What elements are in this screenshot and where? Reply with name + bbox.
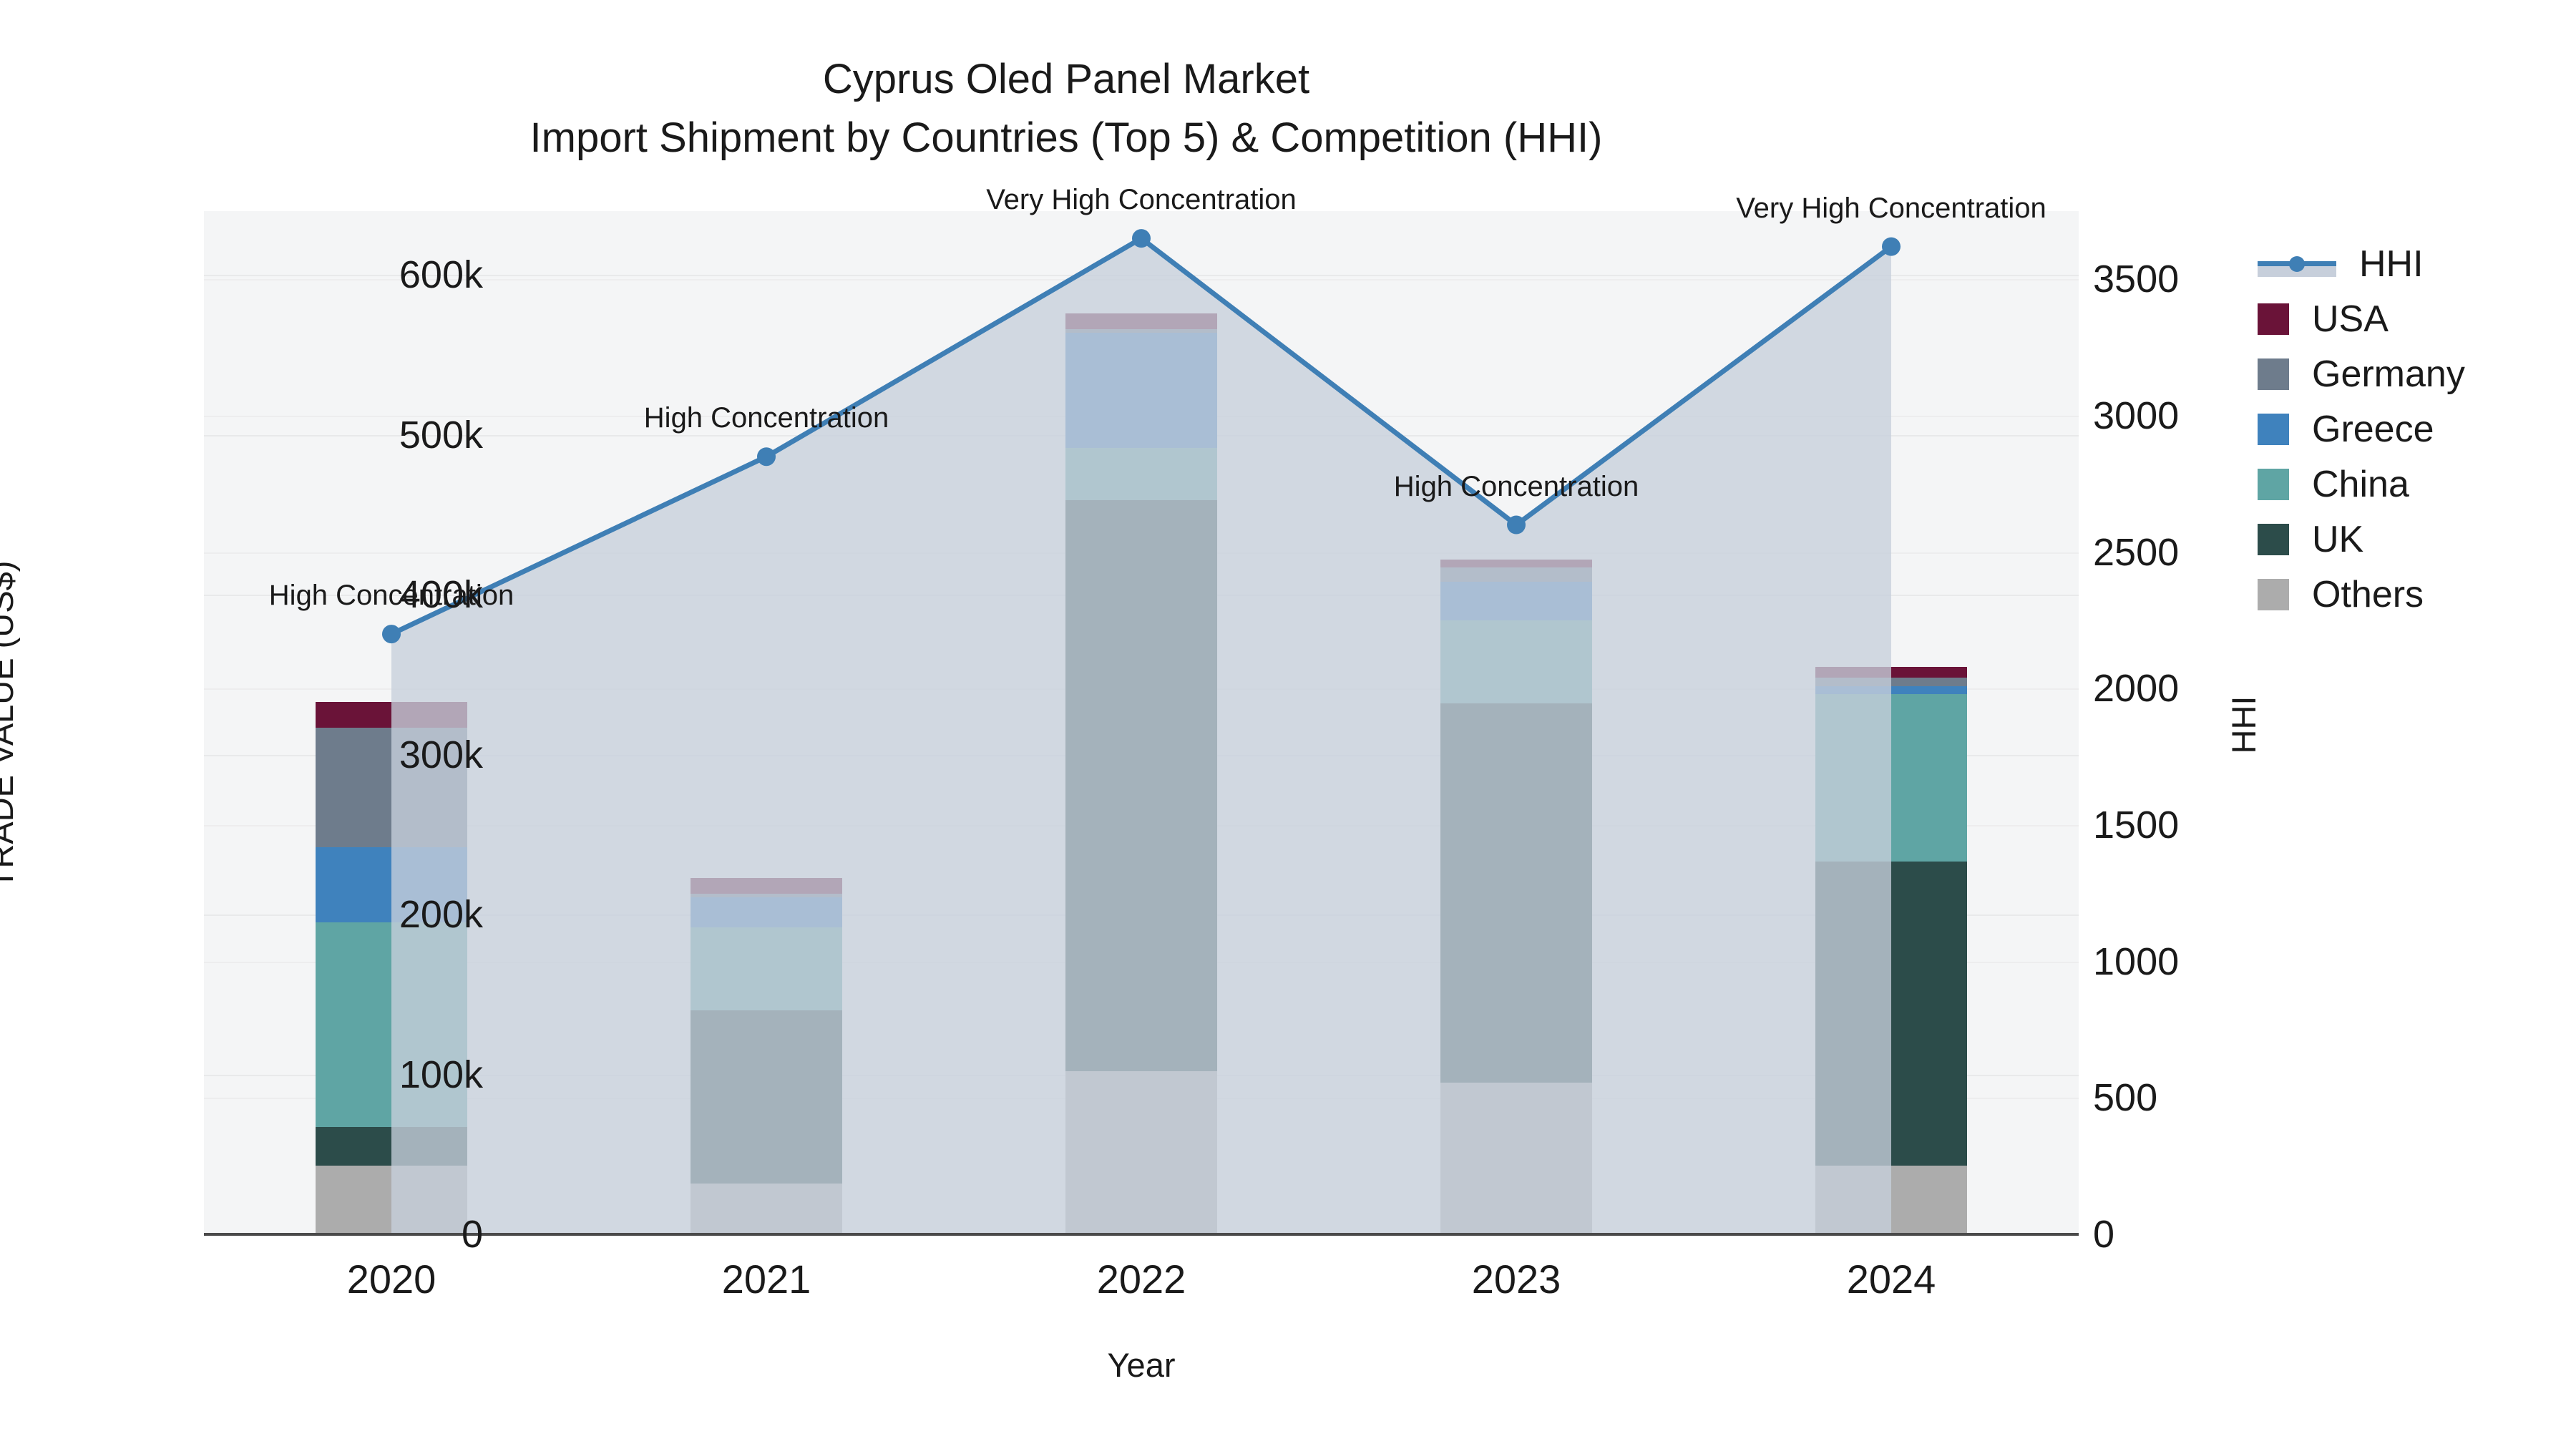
bar-segment-greece-2023[interactable] (1440, 582, 1592, 620)
bar-segment-greece-2024[interactable] (1815, 686, 1967, 694)
x-tick-2022: 2022 (1097, 1256, 1186, 1302)
x-tick-2021: 2021 (722, 1256, 811, 1302)
bar-segment-uk-2023[interactable] (1440, 703, 1592, 1083)
y-tick-left-200k: 200k (268, 892, 483, 937)
bar-segment-others-2024[interactable] (1815, 1166, 1967, 1234)
legend-label: USA (2312, 301, 2389, 338)
bar-segment-others-2021[interactable] (691, 1184, 842, 1235)
annotation-2022: Very High Concentration (986, 184, 1297, 216)
y-tick-left-500k: 500k (268, 413, 483, 457)
annotation-2023: High Concentration (1394, 471, 1639, 503)
legend-item-usa[interactable]: USA (2258, 291, 2558, 346)
legend-swatch-icon (2258, 524, 2289, 555)
legend-item-hhi[interactable]: HHI (2258, 236, 2558, 291)
bar-segment-uk-2021[interactable] (691, 1010, 842, 1183)
x-axis-line (204, 1233, 2079, 1236)
x-tick-2024: 2024 (1847, 1256, 1936, 1302)
hhi-point-2021[interactable] (757, 447, 776, 466)
legend-swatch-icon (2258, 358, 2289, 390)
plot-area: High ConcentrationHigh ConcentrationVery… (204, 211, 2079, 1234)
legend-label: China (2312, 466, 2409, 503)
annotation-2024: Very High Concentration (1736, 192, 2046, 225)
legend-label: HHI (2359, 245, 2424, 283)
x-tick-2020: 2020 (347, 1256, 436, 1302)
bar-segment-others-2023[interactable] (1440, 1083, 1592, 1234)
bar-segment-china-2022[interactable] (1065, 448, 1217, 501)
bar-segment-usa-2024[interactable] (1815, 667, 1967, 678)
bar-2023[interactable] (1440, 560, 1592, 1234)
chart-title: Cyprus Oled Panel Market Import Shipment… (0, 50, 2132, 168)
hhi-point-2020[interactable] (382, 625, 401, 643)
x-tick-2023: 2023 (1472, 1256, 1561, 1302)
y-tick-right-1000: 1000 (2093, 940, 2308, 984)
bar-segment-usa-2022[interactable] (1065, 313, 1217, 329)
y-axis-right-title: HHI (2224, 696, 2263, 753)
bar-segment-usa-2023[interactable] (1440, 560, 1592, 567)
legend-label: UK (2312, 521, 2363, 558)
gridline (204, 275, 2079, 276)
y-tick-left-100k: 100k (268, 1053, 483, 1097)
gridline-secondary (204, 279, 2079, 280)
bar-segment-uk-2022[interactable] (1065, 500, 1217, 1071)
bar-segment-germany-2024[interactable] (1815, 678, 1967, 686)
legend-item-germany[interactable]: Germany (2258, 346, 2558, 401)
y-tick-left-400k: 400k (268, 572, 483, 617)
x-axis-title: Year (204, 1345, 2079, 1385)
bar-segment-germany-2023[interactable] (1440, 567, 1592, 582)
bar-segment-usa-2021[interactable] (691, 878, 842, 894)
bar-segment-germany-2022[interactable] (1065, 329, 1217, 332)
bar-segment-uk-2020[interactable] (316, 1127, 467, 1166)
legend-swatch-icon (2258, 469, 2289, 500)
bar-2021[interactable] (691, 878, 842, 1234)
chart-title-line1: Cyprus Oled Panel Market (0, 50, 2132, 109)
legend-label: Others (2312, 576, 2424, 613)
annotation-2021: High Concentration (644, 402, 889, 434)
y-tick-right-500: 500 (2093, 1075, 2308, 1120)
bar-segment-germany-2021[interactable] (691, 894, 842, 897)
bar-segment-usa-2020[interactable] (316, 702, 467, 728)
bar-2024[interactable] (1815, 667, 1967, 1234)
legend-item-china[interactable]: China (2258, 457, 2558, 512)
legend-swatch-icon (2258, 303, 2289, 335)
legend-item-others[interactable]: Others (2258, 567, 2558, 622)
bar-segment-china-2023[interactable] (1440, 620, 1592, 703)
y-axis-left-title: TRADE VALUE (US$) (0, 560, 21, 889)
y-tick-left-300k: 300k (268, 733, 483, 777)
bar-segment-others-2022[interactable] (1065, 1071, 1217, 1234)
bar-segment-uk-2024[interactable] (1815, 862, 1967, 1166)
bar-segment-china-2024[interactable] (1815, 694, 1967, 862)
legend-item-greece[interactable]: Greece (2258, 401, 2558, 457)
chart-title-line2: Import Shipment by Countries (Top 5) & C… (0, 109, 2132, 167)
bar-segment-china-2021[interactable] (691, 927, 842, 1010)
bar-2022[interactable] (1065, 313, 1217, 1234)
bar-segment-greece-2021[interactable] (691, 897, 842, 927)
legend-label: Greece (2312, 411, 2434, 448)
hhi-point-2023[interactable] (1507, 516, 1526, 535)
bar-segment-greece-2022[interactable] (1065, 333, 1217, 448)
hhi-point-2024[interactable] (1882, 238, 1901, 256)
hhi-point-2022[interactable] (1132, 229, 1151, 248)
legend-item-uk[interactable]: UK (2258, 512, 2558, 567)
legend-swatch-icon (2258, 579, 2289, 610)
bar-2020[interactable] (316, 702, 467, 1234)
legend-label: Germany (2312, 356, 2465, 393)
legend-line-marker-icon (2258, 248, 2336, 280)
y-tick-left-0: 0 (268, 1212, 483, 1257)
legend-swatch-icon (2258, 414, 2289, 445)
y-tick-left-600k: 600k (268, 253, 483, 297)
y-tick-right-1500: 1500 (2093, 803, 2308, 847)
y-tick-right-0: 0 (2093, 1212, 2308, 1257)
legend: HHIUSAGermanyGreeceChinaUKOthers (2258, 236, 2558, 622)
y-tick-right-2000: 2000 (2093, 666, 2308, 711)
chart-canvas: Cyprus Oled Panel Market Import Shipment… (0, 0, 2576, 1449)
